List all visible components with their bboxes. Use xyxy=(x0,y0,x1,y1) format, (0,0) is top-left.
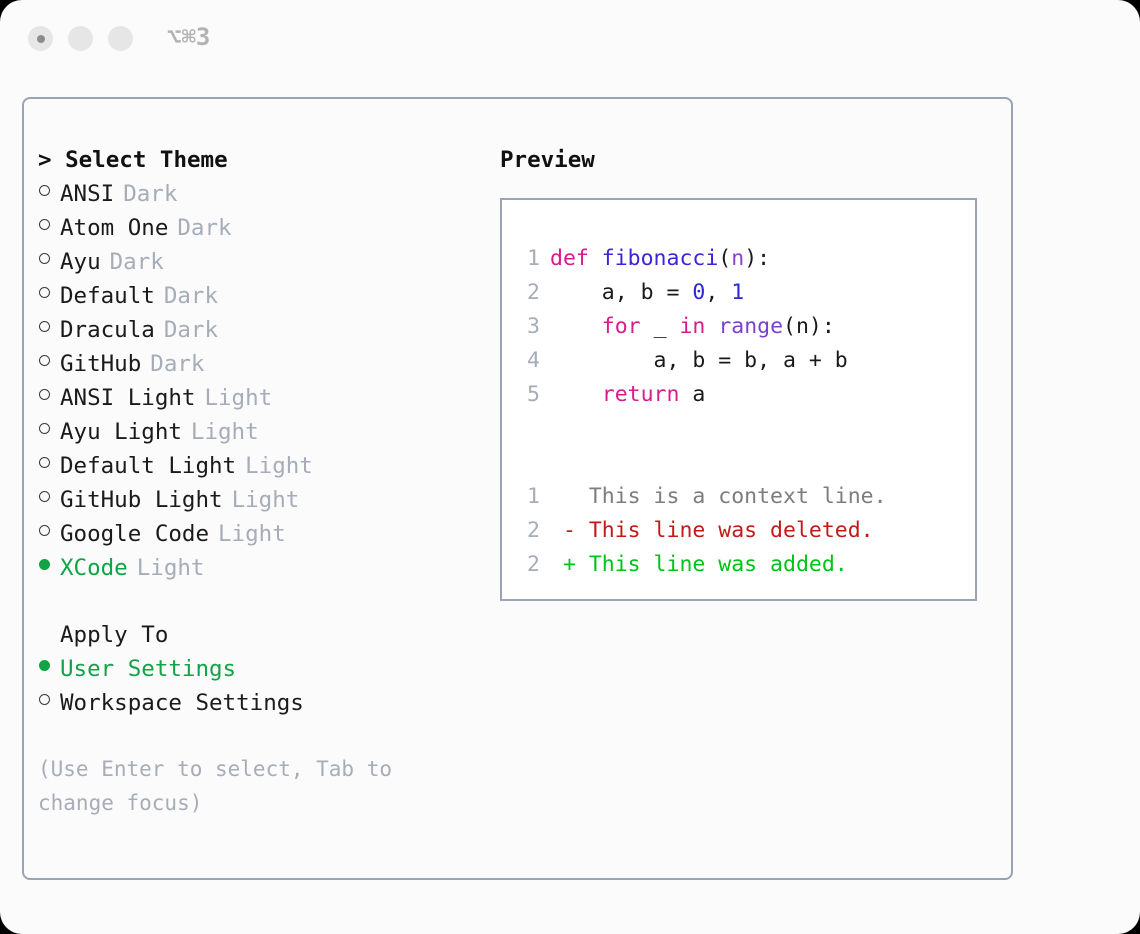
diff-line-content-context: This is a context line. xyxy=(550,480,887,514)
code-line-content: a, b = b, a + b xyxy=(550,344,848,378)
theme-kind-label: Dark xyxy=(123,177,177,211)
code-token-kw: in xyxy=(679,314,705,339)
code-line-content: def fibonacci(n): xyxy=(550,242,770,276)
radio-circle-icon xyxy=(39,491,50,502)
radio-circle-icon xyxy=(39,185,50,196)
code-line: 3 for _ in range(n): xyxy=(514,310,969,344)
line-number: 3 xyxy=(514,310,540,344)
window-button-maximize[interactable] xyxy=(108,26,133,51)
code-line: 4 a, b = b, a + b xyxy=(514,344,969,378)
theme-kind-label: Dark xyxy=(177,211,231,245)
radio-circle-icon xyxy=(39,525,50,536)
theme-kind-label: Light xyxy=(245,449,313,483)
theme-option-label: GitHub xyxy=(60,347,141,381)
code-token-kw: def xyxy=(550,246,602,271)
radio-circle-icon xyxy=(39,219,50,230)
line-number: 1 xyxy=(514,242,540,276)
code-line: 5 return a xyxy=(514,378,969,412)
main-card: > Select Theme ANSIDarkAtom OneDarkAyuDa… xyxy=(22,97,1013,880)
theme-option-0[interactable]: ANSIDark xyxy=(38,177,468,211)
theme-option-7[interactable]: Ayu LightLight xyxy=(38,415,468,449)
code-token-punc: ): xyxy=(744,246,770,271)
theme-option-label: XCode xyxy=(60,551,128,585)
theme-kind-label: Light xyxy=(137,551,205,585)
theme-option-10[interactable]: Google CodeLight xyxy=(38,517,468,551)
code-token-id: a xyxy=(679,382,705,407)
code-token-id xyxy=(550,314,602,339)
code-token-kw: return xyxy=(602,382,680,407)
code-token-param: n xyxy=(731,246,744,271)
theme-option-6[interactable]: ANSI LightLight xyxy=(38,381,468,415)
radio-circle-icon xyxy=(39,559,50,570)
radio-circle-icon xyxy=(39,321,50,332)
radio-circle-icon xyxy=(39,287,50,298)
theme-kind-label: Light xyxy=(232,483,300,517)
line-number: 4 xyxy=(514,344,540,378)
theme-kind-label: Light xyxy=(191,415,259,449)
line-number: 2 xyxy=(514,514,540,548)
title-bar: ⌥⌘3 xyxy=(0,0,1140,78)
radio-circle-icon xyxy=(39,355,50,366)
theme-option-label: Default Light xyxy=(60,449,236,483)
code-line: 2 a, b = 0, 1 xyxy=(514,276,969,310)
theme-option-label: ANSI Light xyxy=(60,381,195,415)
theme-option-1[interactable]: Atom OneDark xyxy=(38,211,468,245)
theme-kind-label: Dark xyxy=(164,313,218,347)
line-number: 2 xyxy=(514,548,540,582)
code-spacer xyxy=(514,446,969,480)
code-line-content: return a xyxy=(550,378,705,412)
apply-to-list: User SettingsWorkspace Settings xyxy=(38,652,468,720)
theme-option-label: Ayu xyxy=(60,245,101,279)
theme-option-label: Default xyxy=(60,279,155,313)
theme-option-3[interactable]: DefaultDark xyxy=(38,279,468,313)
theme-option-11[interactable]: XCodeLight xyxy=(38,551,468,585)
code-token-id: , xyxy=(705,280,731,305)
code-token-num: 1 xyxy=(731,280,744,305)
apply-to-option-1[interactable]: Workspace Settings xyxy=(38,686,468,720)
code-token-id: _ xyxy=(641,314,680,339)
theme-kind-label: Dark xyxy=(164,279,218,313)
window-button-close[interactable] xyxy=(28,26,53,51)
radio-circle-icon xyxy=(39,423,50,434)
code-token-id xyxy=(705,314,718,339)
apply-to-heading: Apply To xyxy=(38,618,468,652)
code-token-fn: fibonacci xyxy=(602,246,719,271)
line-number: 5 xyxy=(514,378,540,412)
code-token-id: a, b = b, a + b xyxy=(550,348,848,373)
preview-heading: Preview xyxy=(500,143,995,177)
code-token-punc: ( xyxy=(718,246,731,271)
theme-kind-label: Light xyxy=(218,517,286,551)
theme-option-label: GitHub Light xyxy=(60,483,223,517)
code-token-builtin: range xyxy=(718,314,783,339)
diff-line-content-added: + This line was added. xyxy=(550,548,848,582)
theme-option-label: Atom One xyxy=(60,211,168,245)
code-token-id: a, b = xyxy=(550,280,692,305)
code-spacer xyxy=(514,412,969,446)
apply-to-option-label: User Settings xyxy=(60,652,236,686)
theme-kind-label: Light xyxy=(204,381,272,415)
radio-circle-icon xyxy=(39,694,50,705)
theme-option-label: Google Code xyxy=(60,517,209,551)
diff-line: 1 This is a context line. xyxy=(514,480,969,514)
apply-to-option-0[interactable]: User Settings xyxy=(38,652,468,686)
diff-line-content-deleted: - This line was deleted. xyxy=(550,514,874,548)
theme-option-9[interactable]: GitHub LightLight xyxy=(38,483,468,517)
theme-option-4[interactable]: DraculaDark xyxy=(38,313,468,347)
apply-to-option-label: Workspace Settings xyxy=(60,686,304,720)
code-token-kw: for xyxy=(602,314,641,339)
theme-option-5[interactable]: GitHubDark xyxy=(38,347,468,381)
radio-circle-icon xyxy=(39,253,50,264)
keyboard-shortcut-label: ⌥⌘3 xyxy=(167,23,210,51)
window-button-minimize[interactable] xyxy=(68,26,93,51)
theme-kind-label: Dark xyxy=(110,245,164,279)
line-number: 2 xyxy=(514,276,540,310)
code-token-num: 0 xyxy=(692,280,705,305)
radio-circle-icon xyxy=(39,457,50,468)
code-line: 1def fibonacci(n): xyxy=(514,242,969,276)
keyboard-hint-text: (Use Enter to select, Tab to change focu… xyxy=(38,752,438,820)
theme-list: ANSIDarkAtom OneDarkAyuDarkDefaultDarkDr… xyxy=(38,177,468,585)
code-token-punc: (n): xyxy=(783,314,835,339)
theme-option-8[interactable]: Default LightLight xyxy=(38,449,468,483)
diff-line: 2 - This line was deleted. xyxy=(514,514,969,548)
active-dot-icon xyxy=(37,35,45,43)
theme-selector-panel: > Select Theme ANSIDarkAtom OneDarkAyuDa… xyxy=(38,143,468,820)
diff-line: 2 + This line was added. xyxy=(514,548,969,582)
code-line-content: for _ in range(n): xyxy=(550,310,835,344)
apply-to-section: Apply To User SettingsWorkspace Settings xyxy=(38,618,468,720)
theme-option-2[interactable]: AyuDark xyxy=(38,245,468,279)
theme-option-label: Dracula xyxy=(60,313,155,347)
radio-circle-icon xyxy=(39,389,50,400)
code-preview: 1def fibonacci(n):2 a, b = 0, 13 for _ i… xyxy=(514,242,969,582)
app-window: ⌥⌘3 > Select Theme ANSIDarkAtom OneDarkA… xyxy=(0,0,1140,934)
code-token-id xyxy=(550,382,602,407)
code-line-content: a, b = 0, 1 xyxy=(550,276,744,310)
select-theme-heading: > Select Theme xyxy=(38,143,468,177)
theme-option-label: ANSI xyxy=(60,177,114,211)
line-number: 1 xyxy=(514,480,540,514)
preview-box: 1def fibonacci(n):2 a, b = 0, 13 for _ i… xyxy=(500,198,977,601)
radio-circle-icon xyxy=(39,660,50,671)
preview-panel: Preview 1def fibonacci(n):2 a, b = 0, 13… xyxy=(500,143,995,601)
theme-option-label: Ayu Light xyxy=(60,415,182,449)
theme-kind-label: Dark xyxy=(150,347,204,381)
